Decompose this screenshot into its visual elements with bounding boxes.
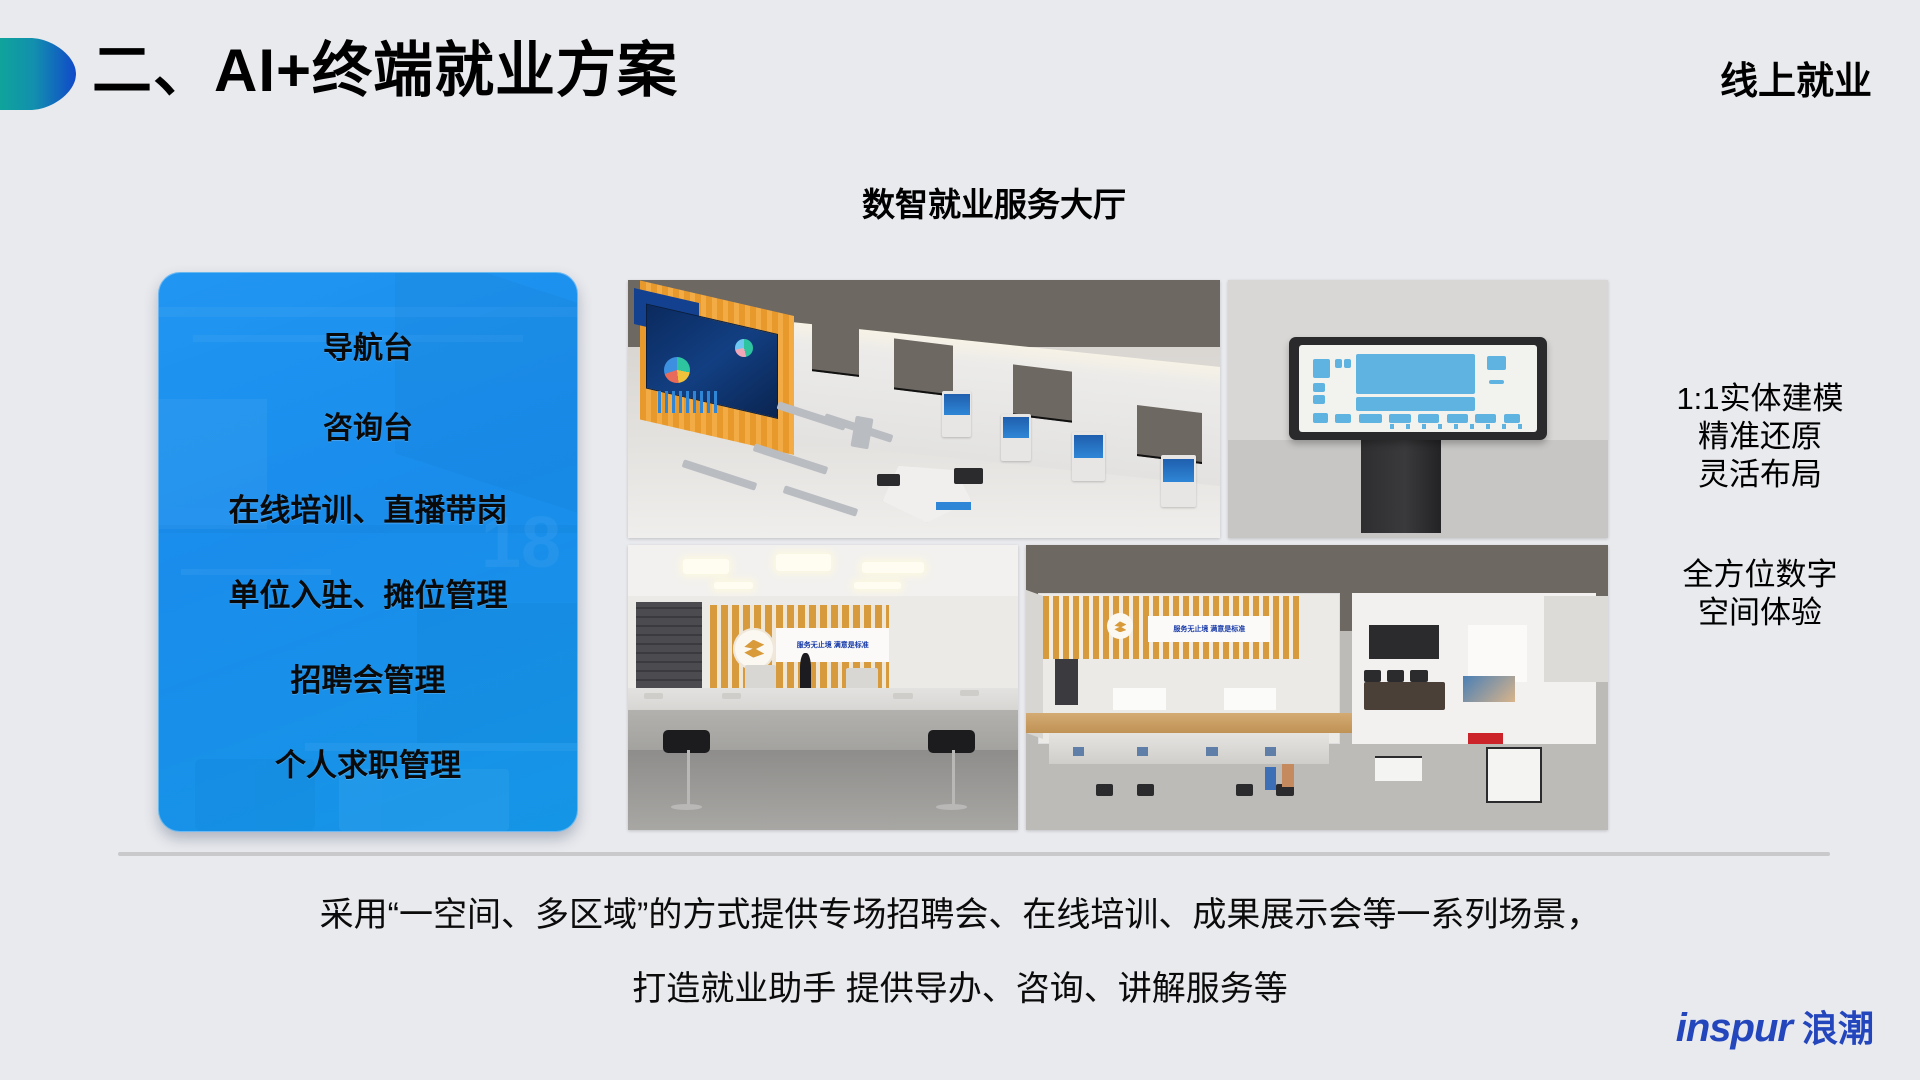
chevron-right-marker-icon <box>0 38 76 110</box>
gallery-image-reception-counter[interactable]: 服务无止境 满意是标准 <box>628 545 1018 830</box>
section-heading: 数智就业服务大厅 <box>862 178 1126 226</box>
annotation-digital-space: 全方位数字 空间体验 <box>1620 556 1900 632</box>
feature-item-employer-booth[interactable]: 单位入驻、摊位管理 <box>229 570 508 615</box>
feature-item-consultation-desk[interactable]: 咨询台 <box>323 403 413 447</box>
gallery-image-hall-cutaway-plan[interactable]: 服务无止境 满意是标准 <box>1026 545 1608 830</box>
annotation-digital-space-line-2: 空间体验 <box>1620 594 1900 632</box>
annotation-modeling-line-3: 灵活布局 <box>1620 456 1900 494</box>
caption-block: 采用“一空间、多区域”的方式提供专场招聘会、在线培训、成果展示会等一系列场景， … <box>0 898 1920 1006</box>
feature-panel-list: 导航台 咨询台 在线培训、直播带岗 单位入驻、摊位管理 招聘会管理 个人求职管理… <box>159 273 577 831</box>
caption-line-2: 打造就业助手 提供导办、咨询、讲解服务等 <box>0 972 1920 1006</box>
annotation-modeling-line-1: 1:1实体建模 <box>1620 380 1900 418</box>
slide-root: 二、AI+终端就业方案 线上就业 数智就业服务大厅 18 导航台 咨询台 在线培… <box>0 0 1920 1080</box>
feature-panel: 18 导航台 咨询台 在线培训、直播带岗 单位入驻、摊位管理 招聘会管理 个人求… <box>158 272 578 832</box>
gallery-image-service-hall-overview[interactable] <box>628 280 1220 538</box>
gallery-grid: 服务无止境 满意是标准 <box>628 280 1608 830</box>
caption-line-1: 采用“一空间、多区域”的方式提供专场招聘会、在线培训、成果展示会等一系列场景， <box>0 898 1920 932</box>
feature-item-job-fair-management[interactable]: 招聘会管理 <box>291 655 446 700</box>
page-title: 二、AI+终端就业方案 <box>92 36 678 105</box>
inspur-logo-cn: 浪潮 <box>1802 1000 1874 1052</box>
reception-banner-text: 服务无止境 满意是标准 <box>797 640 869 650</box>
cutaway-banner-text: 服务无止境 满意是标准 <box>1173 624 1245 634</box>
feature-item-personal-job-seeking[interactable]: 个人求职管理 <box>275 740 461 785</box>
gallery-image-touch-kiosk-floorplan[interactable] <box>1228 280 1608 538</box>
inspur-logo-wordmark: inspur <box>1676 1006 1792 1051</box>
feature-item-more-ellipsis[interactable]: ... <box>349 823 386 832</box>
annotation-modeling: 1:1实体建模 精准还原 灵活布局 <box>1620 380 1900 493</box>
annotation-modeling-line-2: 精准还原 <box>1620 418 1900 456</box>
feature-item-navigation-desk[interactable]: 导航台 <box>323 323 413 367</box>
header-tag-label: 线上就业 <box>1720 50 1872 105</box>
feature-item-online-training[interactable]: 在线培训、直播带岗 <box>229 485 508 530</box>
section-divider <box>118 852 1830 856</box>
inspur-logo: inspur 浪潮 <box>1676 1000 1874 1052</box>
annotation-digital-space-line-1: 全方位数字 <box>1620 556 1900 594</box>
